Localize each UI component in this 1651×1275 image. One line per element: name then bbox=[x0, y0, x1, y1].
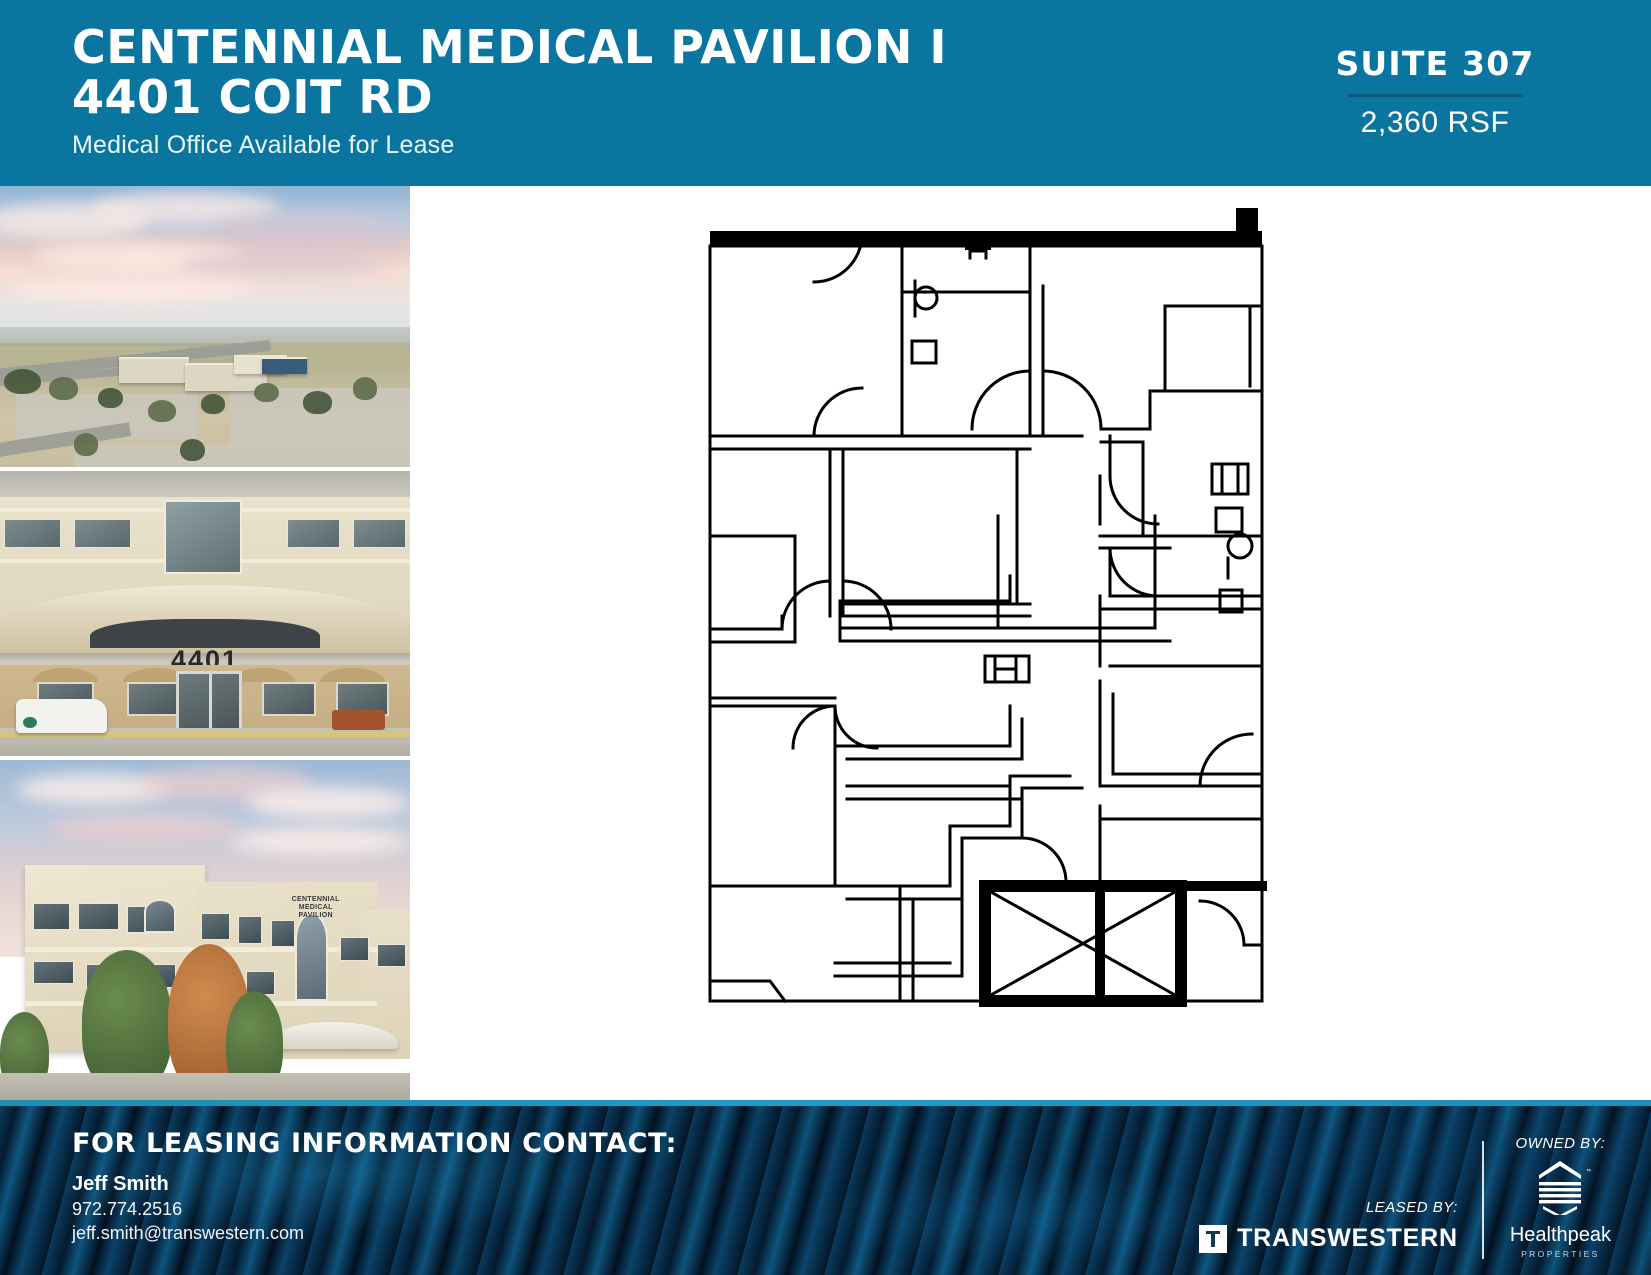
contact-phone[interactable]: 972.774.2516 bbox=[72, 1199, 677, 1220]
transwestern-mark-icon bbox=[1199, 1225, 1227, 1253]
tree bbox=[4, 369, 41, 394]
contact-name: Jeff Smith bbox=[72, 1173, 677, 1196]
window bbox=[238, 916, 263, 943]
healthpeak-subtitle: PROPERTIES bbox=[1510, 1249, 1611, 1259]
healthpeak-shield-icon: ™ bbox=[1529, 1159, 1591, 1215]
property-address: 4401 COIT RD bbox=[72, 72, 947, 122]
leased-by-label: LEASED BY: bbox=[1199, 1199, 1458, 1216]
window bbox=[127, 682, 180, 716]
transwestern-logo: TRANSWESTERN bbox=[1199, 1224, 1458, 1253]
floor-plan-panel bbox=[410, 186, 1651, 1100]
tree bbox=[148, 400, 177, 422]
tree bbox=[49, 377, 78, 399]
photo-column: 4401 bbox=[0, 186, 410, 1100]
entry-tower-glass bbox=[295, 913, 328, 1001]
owned-by-label: OWNED BY: bbox=[1510, 1135, 1611, 1152]
suite-block: SUITE 307 2,360 RSF bbox=[1285, 44, 1585, 140]
window bbox=[78, 903, 119, 930]
page-footer: FOR LEASING INFORMATION CONTACT: Jeff Sm… bbox=[0, 1100, 1651, 1275]
photo-building-exterior: CENTENNIAL MEDICAL PAVILION bbox=[0, 760, 410, 1100]
canopy-soffit bbox=[90, 619, 320, 648]
cloud bbox=[246, 787, 410, 818]
tree bbox=[82, 950, 172, 1093]
property-name: CENTENNIAL MEDICAL PAVILION I bbox=[72, 22, 947, 72]
ground-pavement bbox=[0, 1073, 410, 1100]
leasing-contact-block: FOR LEASING INFORMATION CONTACT: Jeff Sm… bbox=[72, 1128, 677, 1244]
window bbox=[353, 519, 406, 548]
window bbox=[4, 519, 61, 548]
window bbox=[377, 944, 406, 968]
contact-email[interactable]: jeff.smith@transwestern.com bbox=[72, 1223, 677, 1244]
flyer-page: CENTENNIAL MEDICAL PAVILION I 4401 COIT … bbox=[0, 0, 1651, 1275]
suite-area: 2,360 RSF bbox=[1285, 106, 1585, 140]
window bbox=[271, 920, 296, 947]
service-van bbox=[16, 699, 106, 733]
cloud bbox=[230, 828, 410, 855]
svg-text:™: ™ bbox=[1586, 1168, 1591, 1175]
window bbox=[287, 519, 340, 548]
healthpeak-wordmark: Healthpeak bbox=[1510, 1224, 1611, 1247]
glass-curtain-wall bbox=[164, 500, 242, 574]
tree bbox=[254, 383, 279, 403]
tree bbox=[180, 439, 205, 461]
suite-307-floor-plan bbox=[410, 186, 1651, 1100]
header-titles: CENTENNIAL MEDICAL PAVILION I 4401 COIT … bbox=[72, 22, 947, 160]
tree bbox=[201, 394, 226, 414]
background-road bbox=[0, 471, 410, 497]
cloud bbox=[180, 251, 385, 276]
tree bbox=[353, 377, 378, 399]
aerial-illustration bbox=[0, 186, 410, 467]
page-header: CENTENNIAL MEDICAL PAVILION I 4401 COIT … bbox=[0, 0, 1651, 186]
owned-by-block: OWNED BY: ™ Healthpeak PROPERTIES bbox=[1484, 1135, 1611, 1275]
cloud bbox=[8, 279, 254, 301]
tree bbox=[303, 391, 332, 413]
suite-number: SUITE 307 bbox=[1285, 44, 1585, 83]
footer-logos: LEASED BY: TRANSWESTERN OWNED BY: bbox=[1199, 1100, 1611, 1275]
window bbox=[201, 913, 230, 940]
bench bbox=[332, 710, 385, 730]
window bbox=[33, 903, 70, 930]
tree bbox=[98, 388, 123, 408]
transwestern-wordmark: TRANSWESTERN bbox=[1237, 1224, 1458, 1253]
cloud bbox=[49, 814, 238, 841]
leased-by-block: LEASED BY: TRANSWESTERN bbox=[1199, 1199, 1482, 1275]
window bbox=[74, 519, 131, 548]
photo-aerial-view bbox=[0, 186, 410, 467]
building-roof bbox=[262, 357, 307, 374]
arched-window bbox=[144, 899, 177, 933]
property-subtitle: Medical Office Available for Lease bbox=[72, 131, 947, 160]
building-signage: CENTENNIAL MEDICAL PAVILION bbox=[283, 896, 349, 920]
window bbox=[33, 961, 74, 985]
exterior-illustration: CENTENNIAL MEDICAL PAVILION bbox=[0, 760, 410, 1100]
entrance-illustration: 4401 bbox=[0, 471, 410, 756]
leasing-heading: FOR LEASING INFORMATION CONTACT: bbox=[72, 1128, 677, 1159]
tree bbox=[74, 433, 99, 455]
photo-building-entrance: 4401 bbox=[0, 471, 410, 756]
cloud bbox=[213, 211, 393, 245]
suite-divider bbox=[1348, 94, 1523, 97]
entry-doors bbox=[176, 671, 242, 734]
parking-lot bbox=[74, 445, 410, 467]
building bbox=[119, 357, 189, 382]
window bbox=[340, 937, 369, 961]
window bbox=[262, 682, 315, 716]
